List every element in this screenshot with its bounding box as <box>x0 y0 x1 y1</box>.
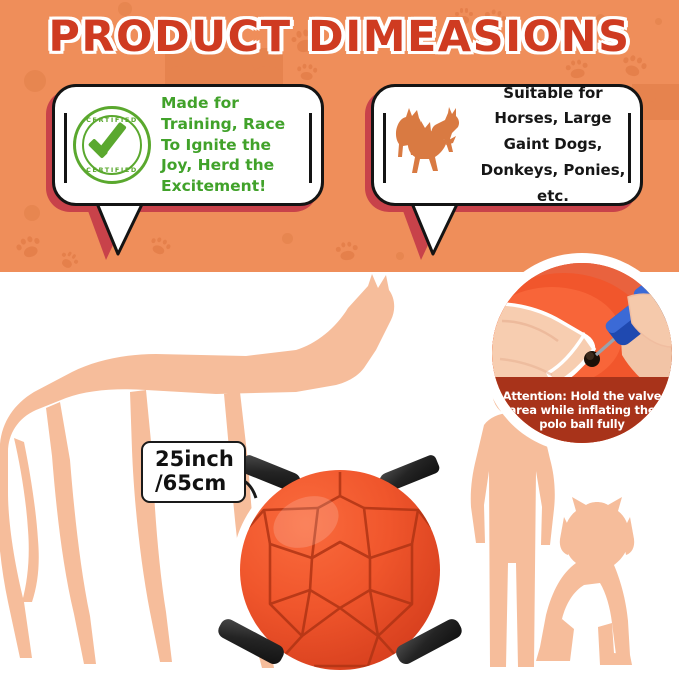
certified-bubble: CERTIFIED CERTIFIED Made for Training, R… <box>52 84 324 206</box>
product-dimensions-infographic: PRODUCT DIMEASIONS CERTIFIED CERTIFIED M… <box>0 0 679 677</box>
checkmark-icon <box>90 126 134 150</box>
bubble-body: CERTIFIED CERTIFIED Made for Training, R… <box>52 84 324 206</box>
quote-bar-left <box>64 113 67 183</box>
certified-check-badge: CERTIFIED CERTIFIED <box>73 106 151 184</box>
paw-print-icon <box>14 232 45 263</box>
page-title: PRODUCT DIMEASIONS <box>0 12 679 62</box>
valve-inflation-inset: Attention: Hold the valve area while inf… <box>487 258 677 448</box>
polo-ball <box>240 470 440 670</box>
quote-bar-right <box>309 113 312 183</box>
suitable-bubble-text: Suitable for Horses, Large Gaint Dogs, D… <box>480 81 626 210</box>
suitable-bubble: Suitable for Horses, Large Gaint Dogs, D… <box>371 84 643 206</box>
dot-decoration <box>24 205 40 221</box>
attention-banner: Attention: Hold the valve area while inf… <box>492 377 672 443</box>
certified-bottom-label: CERTIFIED <box>73 166 151 174</box>
paw-print-icon <box>57 248 82 272</box>
certified-bubble-text: Made for Training, Race To Ignite the Jo… <box>161 93 305 196</box>
attention-text: Attention: Hold the valve area while inf… <box>492 389 672 431</box>
dimension-label: 25inch /65cm <box>141 441 246 503</box>
dot-decoration <box>24 70 46 92</box>
quote-bar-right <box>628 113 631 183</box>
dot-decoration <box>282 233 293 244</box>
sitting-dog-silhouette <box>534 495 669 670</box>
horses-donkey-silhouettes <box>390 105 476 185</box>
certified-top-label: CERTIFIED <box>73 116 151 124</box>
paw-print-icon <box>296 61 318 83</box>
paw-print-icon <box>335 239 359 263</box>
inset-photo-clip: Attention: Hold the valve area while inf… <box>492 263 672 443</box>
bubble-body: Suitable for Horses, Large Gaint Dogs, D… <box>371 84 643 206</box>
quote-bar-left <box>383 113 386 183</box>
